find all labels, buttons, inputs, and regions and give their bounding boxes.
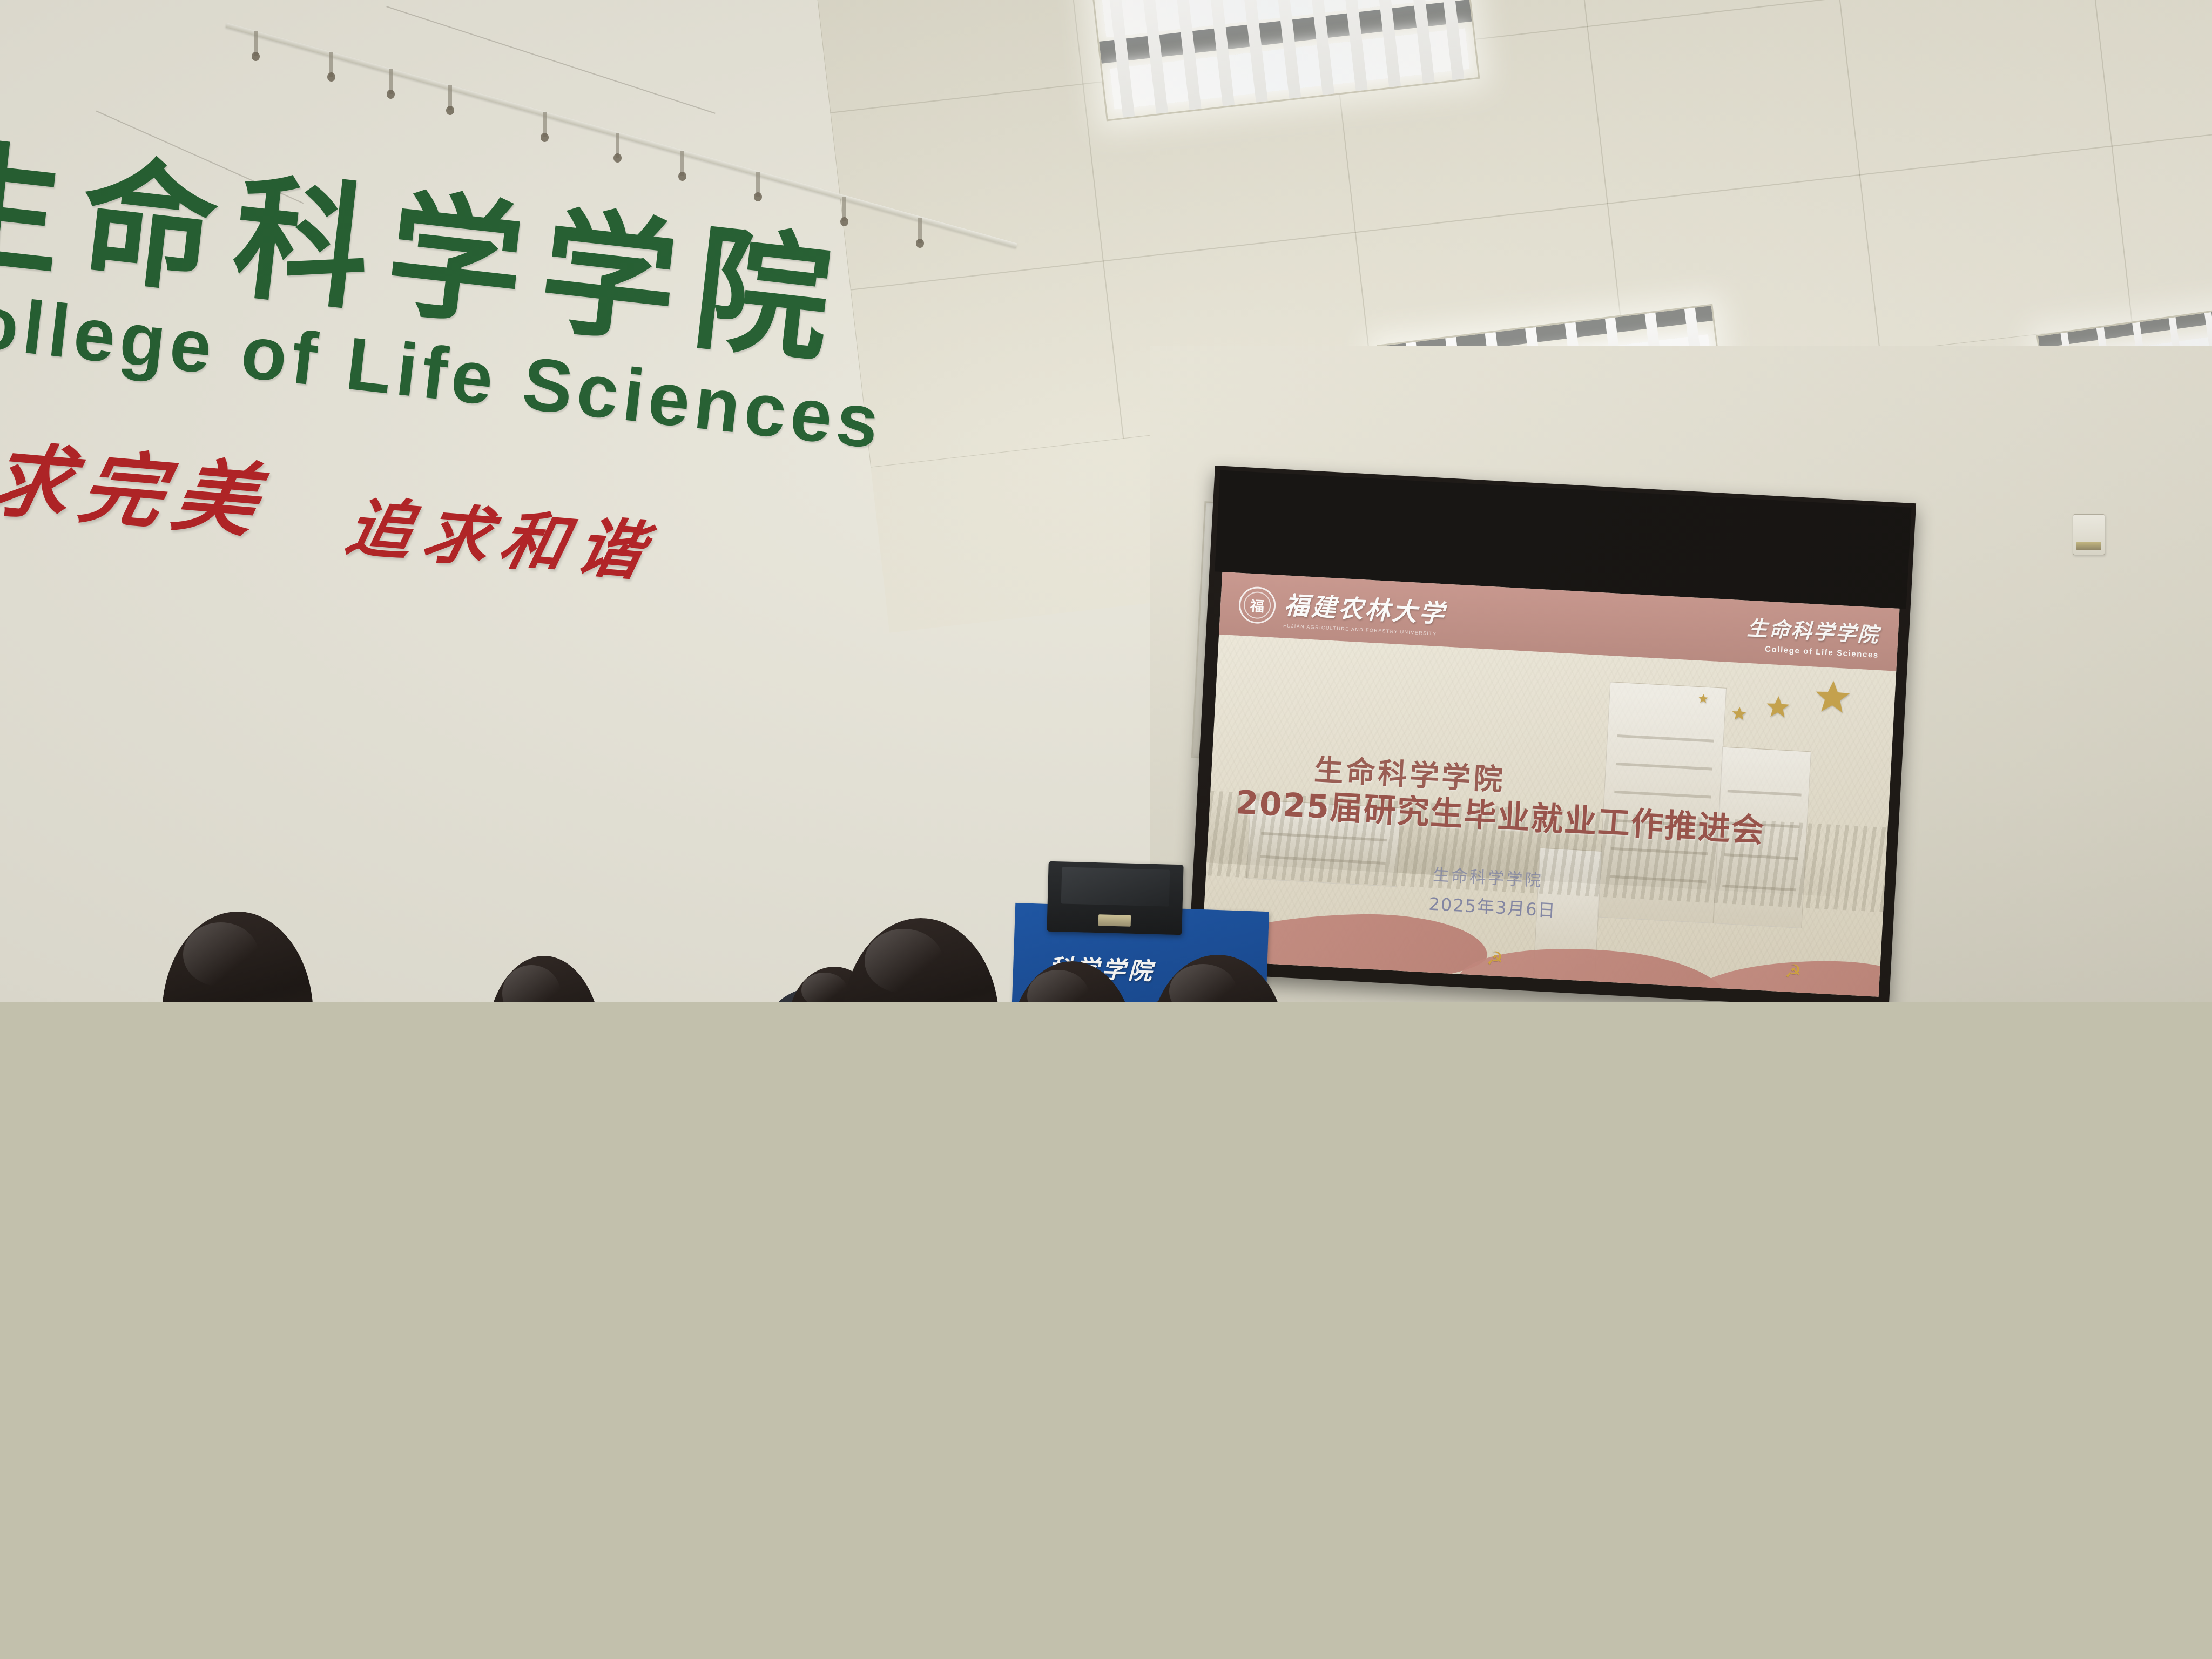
college-brand: 生命科学学院 College of Life Sciences: [1746, 611, 1881, 659]
party-emblem-icon: ☭: [1486, 947, 1504, 970]
rail-hook-icon: [448, 85, 452, 110]
university-emblem-icon: 福: [1238, 586, 1277, 625]
rail-hook-icon: [756, 172, 760, 197]
computer-monitor: [1047, 861, 1183, 935]
university-name-zh: 福建农林大学: [1284, 585, 1447, 630]
rail-hook-icon: [680, 151, 684, 176]
rail-hook-icon: [543, 112, 547, 137]
screenshot-canvas: 生命科学学院 College of Life Sciences 追求完美 追求和…: [0, 0, 2212, 1659]
party-emblem-icon: ☭: [1784, 960, 1802, 983]
gold-star-icon: [1697, 693, 1709, 704]
rail-hook-icon: [254, 31, 258, 56]
ceiling-tile: [1839, 0, 2113, 176]
rail-hook-icon: [918, 218, 922, 243]
wall-speaker-icon: [2073, 514, 2105, 555]
gold-star-icon: [1812, 677, 1853, 718]
rail-hook-icon: [616, 133, 619, 158]
rail-hook-icon: [389, 69, 393, 94]
rail-hook-icon: [329, 52, 333, 77]
ceiling-tile: [1587, 0, 1860, 204]
presentation-slide: 福 福建农林大学 FUJIAN AGRICULTURE AND FORESTRY…: [1201, 572, 1899, 997]
emblem-letter: 福: [1250, 595, 1265, 615]
gold-star-icon: [1730, 705, 1748, 722]
projection-screen: 福 福建农林大学 FUJIAN AGRICULTURE AND FORESTRY…: [1188, 466, 1916, 1002]
background-fill: [0, 1002, 2212, 1659]
motto-pursue-perfection: 追求完美: [0, 407, 281, 554]
ceiling-tile: [1859, 146, 2133, 353]
gold-star-icon: [1764, 693, 1792, 721]
college-name-zh: 生命科学学院: [1746, 611, 1881, 648]
ceiling-tile: [2091, 0, 2212, 147]
monitor-badge: [1098, 914, 1131, 926]
university-brand: 福 福建农林大学 FUJIAN AGRICULTURE AND FORESTRY…: [1238, 583, 1447, 637]
photograph: 生命科学学院 College of Life Sciences 追求完美 追求和…: [0, 0, 2212, 1002]
slide-body: 生命科学学院 2025届研究生毕业就业工作推进会 生命科学学院 2025年3月6…: [1201, 635, 1896, 997]
rail-hook-icon: [842, 197, 846, 221]
